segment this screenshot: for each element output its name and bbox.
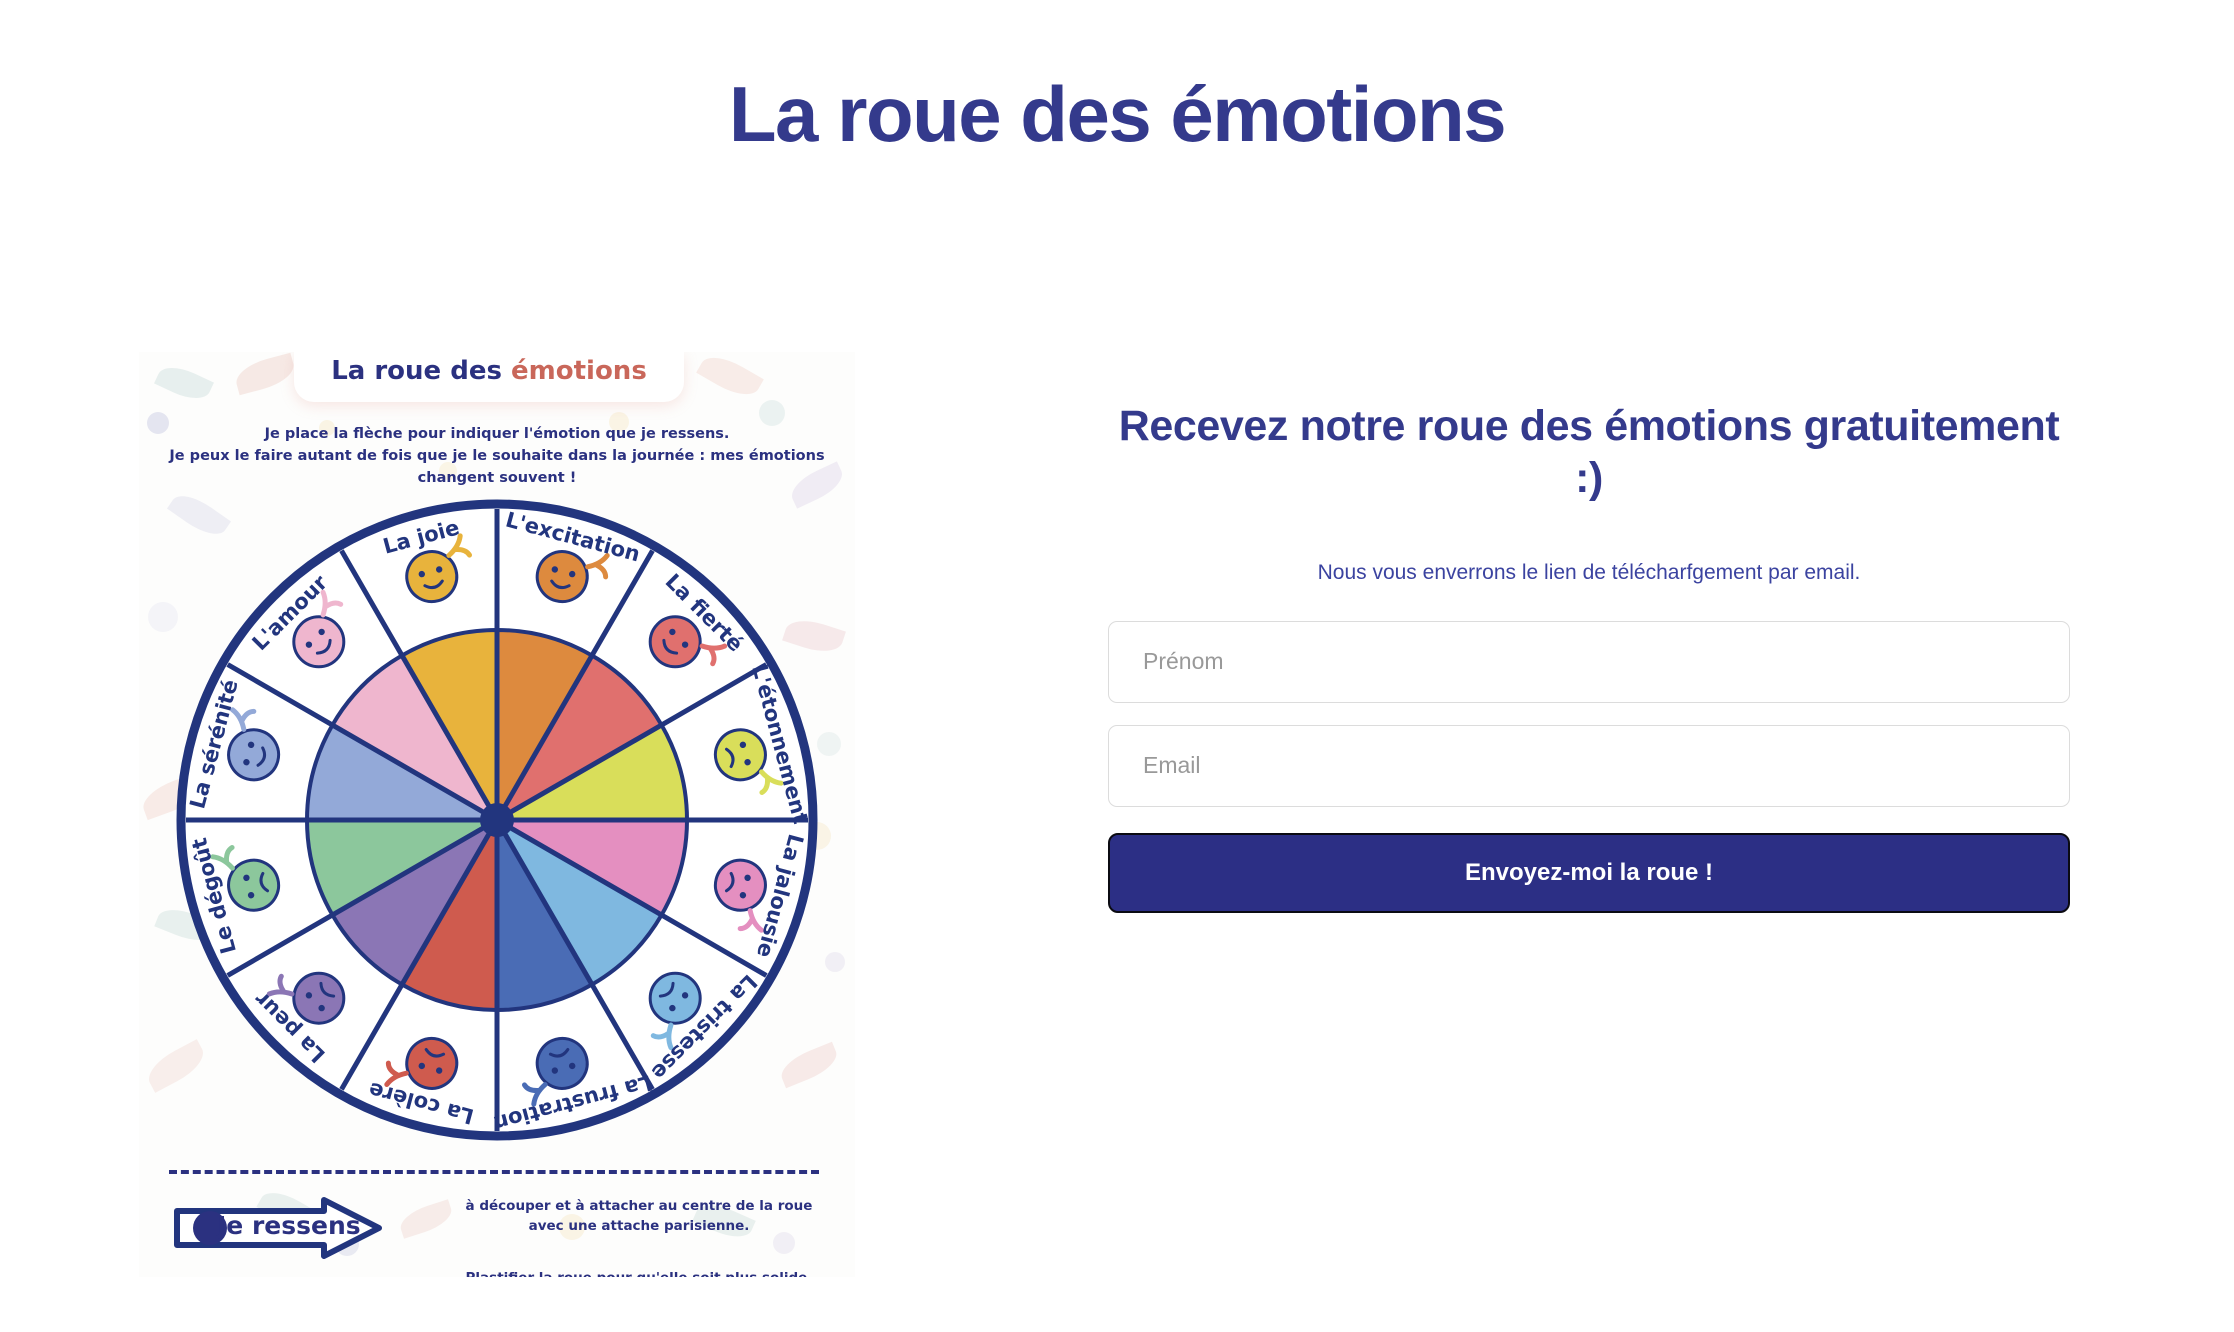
signup-form: Recevez notre roue des émotions gratuite… bbox=[1108, 400, 2070, 913]
poster-title: La roue des émotions bbox=[294, 356, 684, 386]
poster-instruction-line-2: Je peux le faire autant de fois que je l… bbox=[139, 446, 855, 490]
laminate-note: Plastifier la roue pour qu'elle soit plu… bbox=[439, 1269, 839, 1277]
cut-note: à découper et à attacher au centre de la… bbox=[439, 1197, 839, 1236]
emotion-wheel-svg: L'excitationLa fiertéL'étonnementLa jalo… bbox=[164, 487, 830, 1153]
form-subtext: Nous vous enverrons le lien de télécharf… bbox=[1108, 561, 2070, 585]
poster-title-main: La roue des bbox=[331, 356, 511, 386]
emotion-wheel: L'excitationLa fiertéL'étonnementLa jalo… bbox=[164, 487, 830, 1153]
cut-note-line-1: à découper et à attacher au centre de la… bbox=[439, 1197, 839, 1217]
cut-dashed-line bbox=[169, 1170, 819, 1174]
email-input[interactable] bbox=[1108, 725, 2070, 807]
landing-page: La roue des émotions bbox=[0, 0, 2234, 1332]
submit-button[interactable]: Envoyez-moi la roue ! bbox=[1108, 833, 2070, 913]
poster-instructions: Je place la flèche pour indiquer l'émoti… bbox=[139, 424, 855, 489]
form-heading: Recevez notre roue des émotions gratuite… bbox=[1108, 400, 2070, 505]
cut-note-line-2: avec une attache parisienne. bbox=[439, 1217, 839, 1237]
page-title: La roue des émotions bbox=[0, 72, 2234, 158]
emotion-wheel-poster: La roue des émotions Je place la flèche … bbox=[139, 352, 855, 1277]
poster-instruction-line-1: Je place la flèche pour indiquer l'émoti… bbox=[139, 424, 855, 446]
wheel-hub bbox=[480, 803, 514, 837]
je-ressens-label: Je ressens bbox=[217, 1211, 361, 1240]
firstname-input[interactable] bbox=[1108, 621, 2070, 703]
cut-out-row: Je ressens à découper et à attacher au c… bbox=[139, 1197, 855, 1277]
poster-title-accent: émotions bbox=[511, 356, 647, 386]
